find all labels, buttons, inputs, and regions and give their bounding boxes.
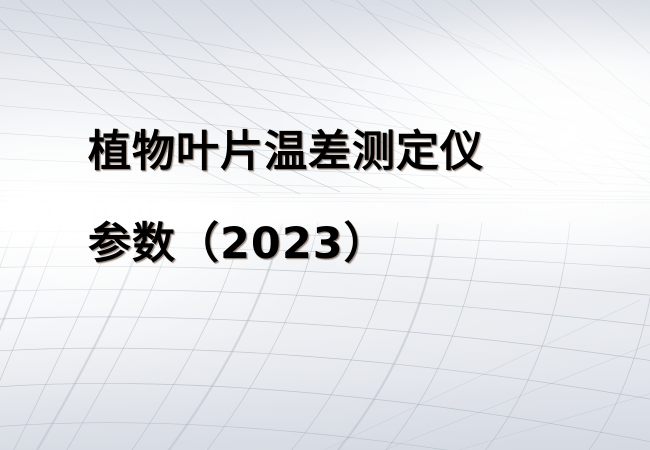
title-line-primary: 植物叶片温差测定仪: [88, 128, 628, 176]
title-line-secondary: 参数（2023）: [88, 220, 628, 268]
title-slide: 植物叶片温差测定仪 参数（2023）: [0, 0, 650, 450]
title-block: 植物叶片温差测定仪 参数（2023）: [88, 128, 628, 268]
